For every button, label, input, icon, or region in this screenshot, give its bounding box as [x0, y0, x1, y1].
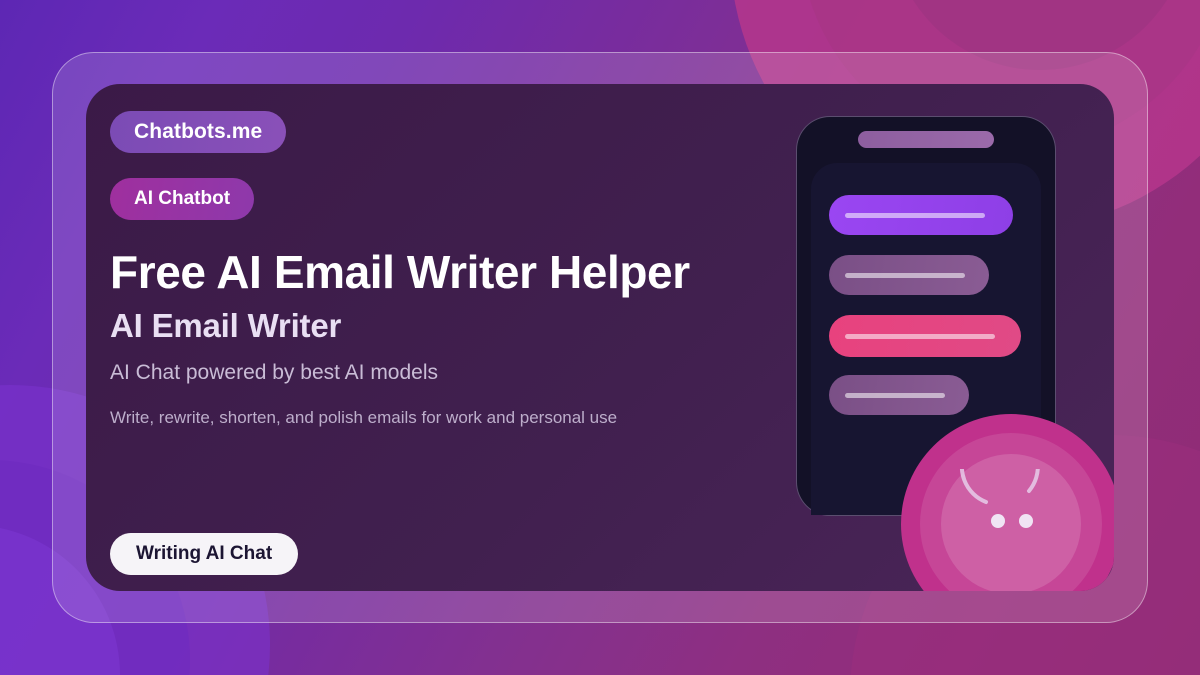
- smiley-face-icon: [956, 469, 1066, 579]
- tagline-text: AI Chat powered by best AI models: [110, 359, 438, 387]
- chat-bubble-text-line: [845, 393, 945, 398]
- hero-card: Chatbots.me AI Chatbot Free AI Email Wri…: [86, 84, 1114, 591]
- chat-bubble-text-line: [845, 273, 965, 278]
- chat-bubble-3: [829, 315, 1021, 357]
- phone-title-bar: [858, 131, 994, 148]
- page-title: Free AI Email Writer Helper: [110, 245, 690, 299]
- category-badge[interactable]: AI Chatbot: [110, 178, 254, 220]
- writing-ai-chat-button[interactable]: Writing AI Chat: [110, 533, 298, 575]
- avatar-ring-inner: [941, 454, 1081, 591]
- chat-bubble-text-line: [845, 334, 995, 339]
- avatar-ring-middle: [920, 433, 1102, 591]
- chat-bubble-2: [829, 255, 989, 295]
- chat-bubble-1: [829, 195, 1013, 235]
- promo-banner: Chatbots.me AI Chatbot Free AI Email Wri…: [0, 0, 1200, 675]
- phone-mockup: [796, 116, 1056, 516]
- page-subtitle: AI Email Writer: [110, 306, 341, 346]
- brand-badge[interactable]: Chatbots.me: [110, 111, 286, 153]
- chat-bubble-4: [829, 375, 969, 415]
- chat-bubble-text-line: [845, 213, 985, 218]
- hero-content: Chatbots.me AI Chatbot Free AI Email Wri…: [110, 84, 810, 591]
- description-text: Write, rewrite, shorten, and polish emai…: [110, 406, 617, 430]
